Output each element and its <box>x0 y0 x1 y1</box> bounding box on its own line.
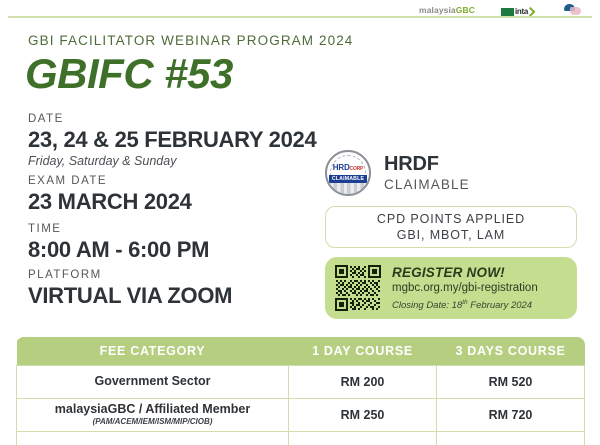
date-label: DATE <box>28 112 316 127</box>
fee-table-body: Government Sector RM 200 RM 520 malaysia… <box>17 365 585 445</box>
seal-base <box>327 183 369 194</box>
exam-date-label: EXAM DATE <box>28 174 192 189</box>
cell-category-sub: (PAM/ACEM/IEM/ISM/MIP/CIOB) <box>17 417 288 427</box>
partner-logo-shape-2 <box>570 7 581 15</box>
date-days: Friday, Saturday & Sunday <box>28 153 316 169</box>
cell-category <box>17 431 289 445</box>
seal-hrd-label: HRD <box>333 163 350 172</box>
register-box[interactable]: REGISTER NOW! mgbc.org.my/gbi-registrati… <box>325 257 577 319</box>
hrdf-title: HRDF <box>384 153 470 176</box>
table-row <box>17 431 585 445</box>
column-header-fee-category: FEE CATEGORY <box>17 337 289 365</box>
cell-one-day: RM 250 <box>289 398 437 431</box>
malaysiagbc-logo-suffix: GBC <box>456 5 475 15</box>
cell-category-main: Government Sector <box>17 374 288 389</box>
cell-three-days <box>437 431 585 445</box>
seal-claimable-label: CLAIMABLE <box>329 175 367 183</box>
seal-corp-label: CORP <box>350 166 364 172</box>
time-label: TIME <box>28 222 209 237</box>
closing-date-suffix: February 2024 <box>468 300 532 311</box>
cell-one-day: RM 200 <box>289 365 437 398</box>
column-header-one-day: 1 DAY COURSE <box>289 337 437 365</box>
cpd-points-box: CPD POINTS APPLIED GBI, MBOT, LAM <box>325 206 577 248</box>
table-row: Government Sector RM 200 RM 520 <box>17 365 585 398</box>
cell-category-main: malaysiaGBC / Affiliated Member <box>17 402 288 417</box>
cell-three-days: RM 720 <box>437 398 585 431</box>
partner-logo <box>562 4 584 16</box>
time-block: TIME 8:00 AM - 6:00 PM <box>28 222 209 263</box>
platform-value: VIRTUAL VIA ZOOM <box>28 283 232 309</box>
gbi-logo: inta <box>501 5 536 16</box>
malaysiagbc-logo: malaysiaGBC <box>419 5 475 16</box>
gbi-logo-mark <box>501 8 514 16</box>
exam-date-value: 23 MARCH 2024 <box>28 189 192 215</box>
qr-code-icon[interactable] <box>334 264 382 312</box>
header-divider <box>8 16 592 18</box>
register-url[interactable]: mgbc.org.my/gbi-registration <box>392 281 538 296</box>
logo-strip: malaysiaGBC inta <box>0 0 600 16</box>
cpd-points-bodies: GBI, MBOT, LAM <box>397 227 505 243</box>
page-title: GBIFC #53 <box>25 50 233 98</box>
hrd-corp-seal-icon: HRDCORP CLAIMABLE <box>325 150 371 196</box>
malaysiagbc-logo-prefix: malaysia <box>419 5 456 15</box>
table-header-row: FEE CATEGORY 1 DAY COURSE 3 DAYS COURSE <box>17 337 585 365</box>
cell-one-day <box>289 431 437 445</box>
hrdf-subtitle: CLAIMABLE <box>384 176 470 193</box>
table-row: malaysiaGBC / Affiliated Member (PAM/ACE… <box>17 398 585 431</box>
fee-table: FEE CATEGORY 1 DAY COURSE 3 DAYS COURSE … <box>16 337 585 445</box>
hrdf-texts: HRDF CLAIMABLE <box>384 153 470 193</box>
cpd-points-title: CPD POINTS APPLIED <box>377 211 525 227</box>
register-title: REGISTER NOW! <box>392 264 538 281</box>
cell-category: malaysiaGBC / Affiliated Member (PAM/ACE… <box>17 398 289 431</box>
closing-date-prefix: Closing Date: 18 <box>392 300 462 311</box>
exam-date-block: EXAM DATE 23 MARCH 2024 <box>28 174 192 215</box>
date-value: 23, 24 & 25 FEBRUARY 2024 <box>28 127 316 153</box>
time-value: 8:00 AM - 6:00 PM <box>28 237 209 263</box>
cell-three-days: RM 520 <box>437 365 585 398</box>
platform-label: PLATFORM <box>28 268 232 283</box>
seal-hrd-text: HRDCORP <box>333 163 363 174</box>
closing-date: Closing Date: 18th February 2024 <box>392 296 538 312</box>
poster-root: malaysiaGBC inta GBI FACILITATOR WEBINAR… <box>0 0 600 445</box>
platform-block: PLATFORM VIRTUAL VIA ZOOM <box>28 268 232 309</box>
column-header-three-days: 3 DAYS COURSE <box>437 337 585 365</box>
date-block: DATE 23, 24 & 25 FEBRUARY 2024 Friday, S… <box>28 112 316 169</box>
register-texts: REGISTER NOW! mgbc.org.my/gbi-registrati… <box>392 264 538 312</box>
fee-table-head: FEE CATEGORY 1 DAY COURSE 3 DAYS COURSE <box>17 337 585 365</box>
program-kicker: GBI FACILITATOR WEBINAR PROGRAM 2024 <box>28 33 353 48</box>
cell-category: Government Sector <box>17 365 289 398</box>
hrdf-block: HRDCORP CLAIMABLE HRDF CLAIMABLE <box>325 150 470 196</box>
